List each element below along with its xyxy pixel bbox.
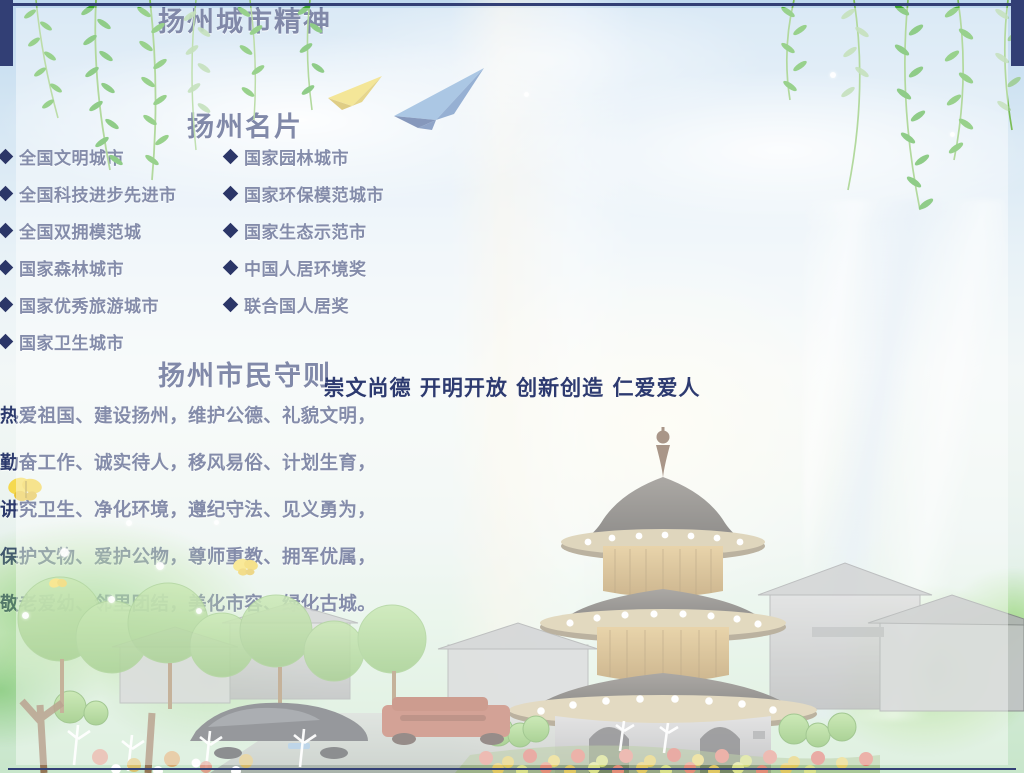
diamond-bullet-icon — [0, 297, 13, 313]
diamond-bullet-icon — [0, 334, 13, 350]
motto-banner: 崇文尚德 开明开放 创新创造 仁爱爱人 — [0, 39, 432, 105]
banner-rule-bottom — [8, 768, 1016, 771]
diamond-bullet-icon — [0, 223, 13, 239]
banner-bar-left — [0, 0, 13, 66]
diamond-bullet-icon — [0, 186, 13, 202]
banner-bar-right — [1011, 0, 1024, 66]
poster-canvas: 扬州城市精神 崇文尚德 开明开放 创新创造 仁爱爱人 扬州名片 全国文明城市 全… — [0, 0, 1024, 773]
city-motto-text: 崇文尚德 开明开放 创新创造 仁爱爱人 — [324, 372, 701, 402]
banner-rule-top — [8, 3, 1016, 6]
diamond-bullet-icon — [0, 149, 13, 165]
diamond-bullet-icon — [0, 260, 13, 276]
motto-banner-inner: 崇文尚德 开明开放 创新创造 仁爱爱人 — [16, 8, 1008, 765]
